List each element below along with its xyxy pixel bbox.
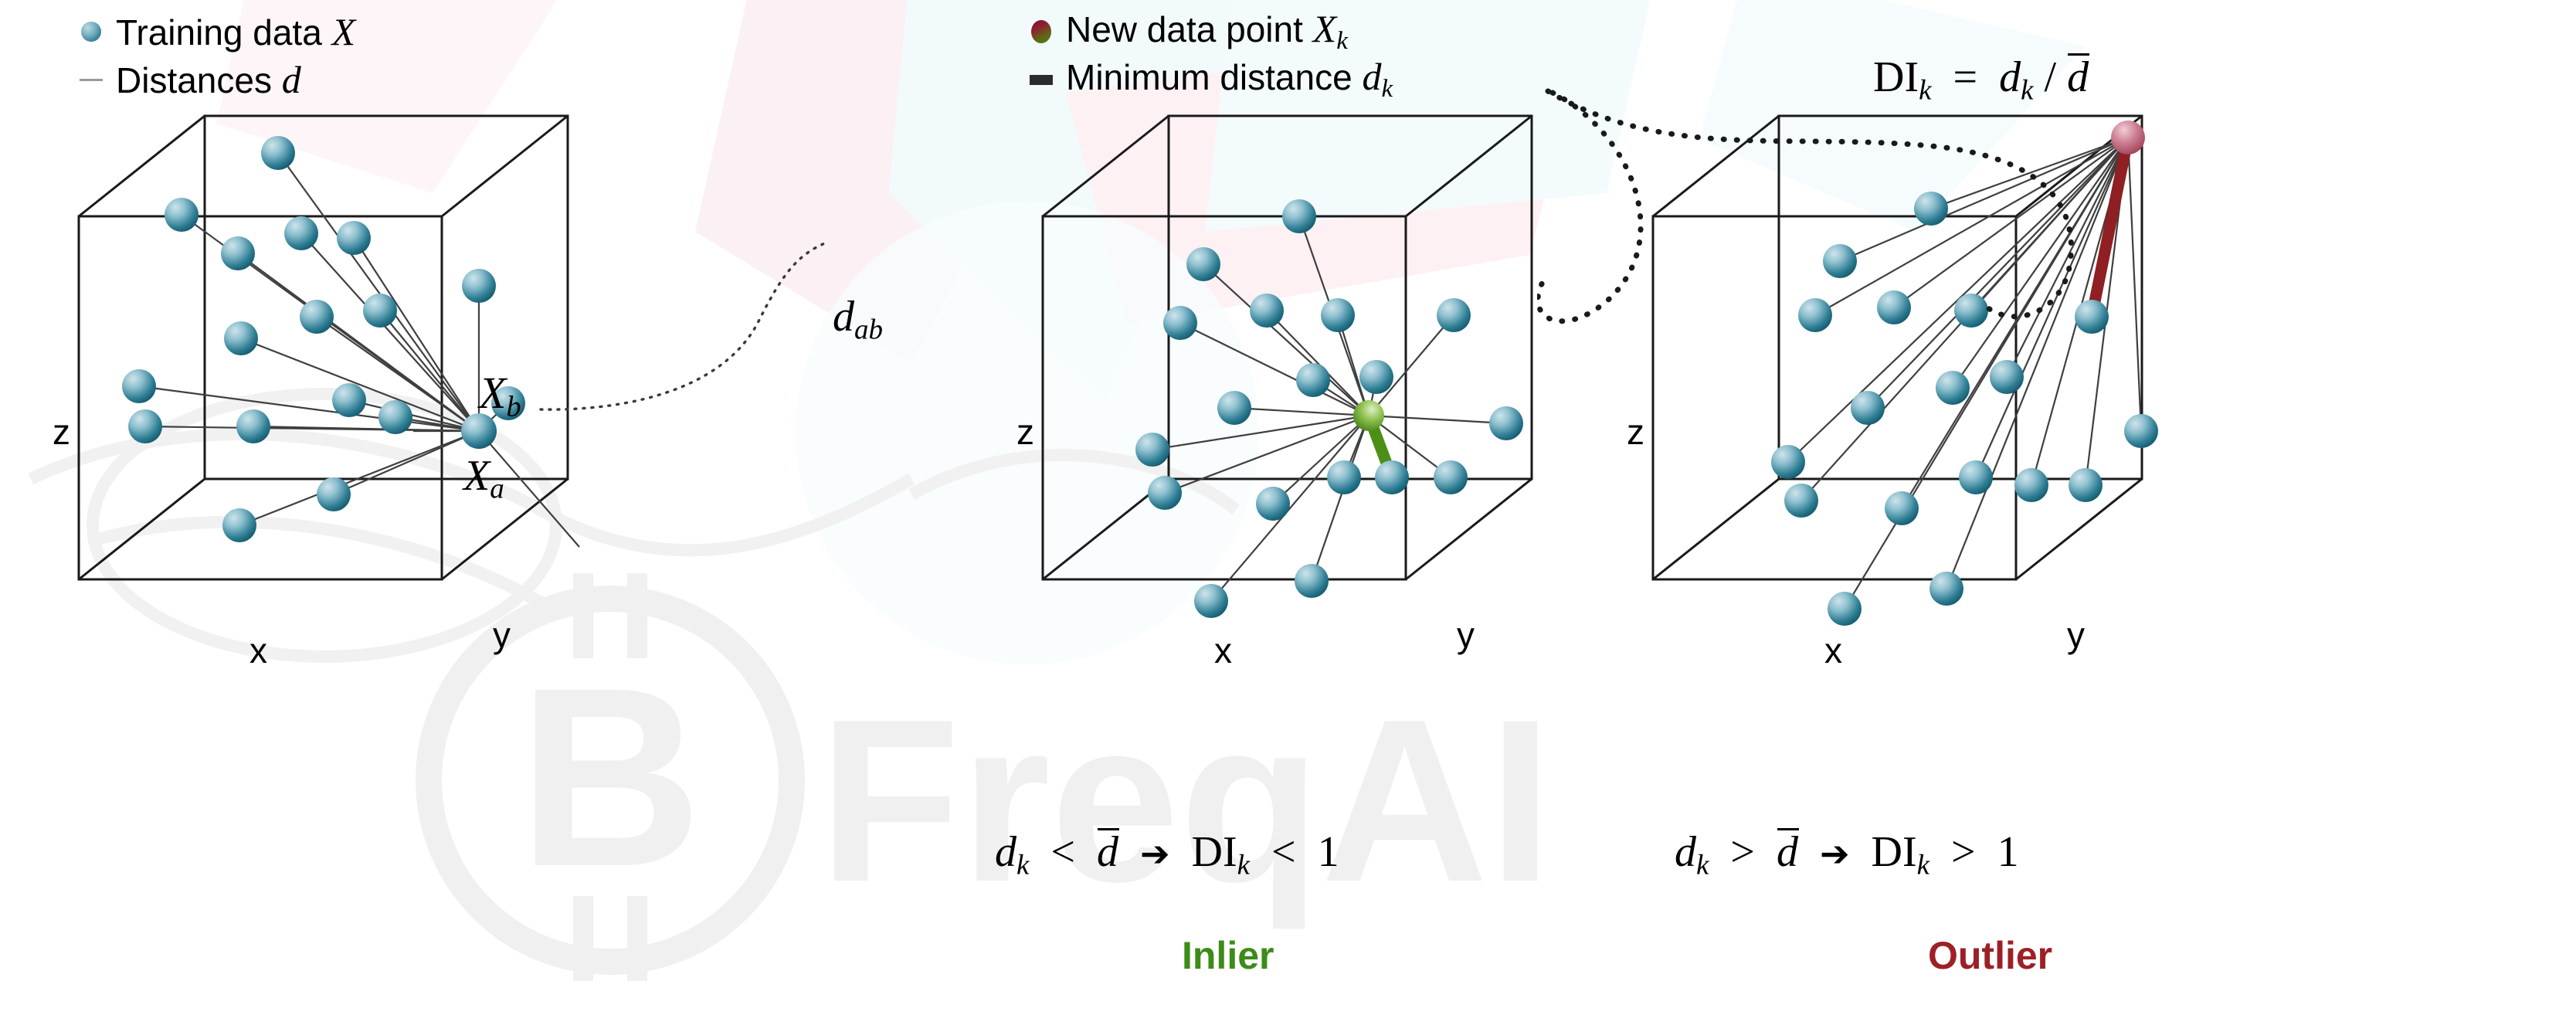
legend-label-training-data: Training data <box>116 12 322 53</box>
legend-column-left: Training data X Distances d <box>66 8 355 104</box>
axis-label-z: z <box>1016 412 1034 452</box>
point-label-xb: Xb <box>479 371 521 422</box>
dk-connector-line <box>1537 85 2310 533</box>
teal-dot-icon <box>66 22 116 42</box>
legend-symbol-xk: X <box>1313 7 1337 50</box>
training-points <box>1135 199 1523 618</box>
axis-label-y: y <box>2067 615 2085 655</box>
axis-label-y: y <box>1457 615 1475 655</box>
axis-label-z: z <box>53 412 70 452</box>
thick-dash-icon <box>1016 75 1066 85</box>
legend-item-minimum-distance: Minimum distance dk <box>1016 56 1393 104</box>
cube-wireframe <box>79 116 568 579</box>
legend-label-new-data-point: New data point <box>1066 9 1303 49</box>
legend-symbol-dk-sub: k <box>1381 75 1393 103</box>
new-data-point-inlier <box>1353 400 1384 431</box>
axis-label-x: x <box>1824 630 1842 671</box>
inlier-rule-formula: dk < d ➔ DIk < 1 <box>995 830 1339 879</box>
legend-column-right: New data point Xk Minimum distance dk <box>1016 8 1393 104</box>
axis-label-x: x <box>249 630 267 671</box>
panel-training-distances: z y x <box>46 93 819 865</box>
legend-symbol-x: X <box>332 10 356 53</box>
point-label-xa: Xa <box>463 454 504 503</box>
legend-symbol-d: d <box>282 58 301 101</box>
dab-leader-line <box>525 232 850 479</box>
legend-label-distances: Distances <box>116 60 272 100</box>
legend-symbol-dk: d <box>1362 55 1381 98</box>
legend-item-distances: Distances d <box>66 56 355 104</box>
legend-item-new-data-point: New data point Xk <box>1016 8 1393 56</box>
legend-symbol-xk-sub: k <box>1336 27 1348 55</box>
outlier-rule-formula: dk > d ➔ DIk > 1 <box>1675 830 2019 879</box>
caption-outlier: Outlier <box>1928 936 2052 975</box>
thin-dash-icon <box>66 79 116 81</box>
legend-item-training-data: Training data X <box>66 8 355 56</box>
axis-label-x: x <box>1214 630 1232 671</box>
axis-label-y: y <box>493 615 511 655</box>
legend-label-minimum-distance: Minimum distance <box>1066 57 1352 97</box>
distance-label-dab: dab <box>833 295 883 344</box>
new-point-dot-icon <box>1016 20 1066 43</box>
caption-inlier: Inlier <box>1182 936 1274 975</box>
